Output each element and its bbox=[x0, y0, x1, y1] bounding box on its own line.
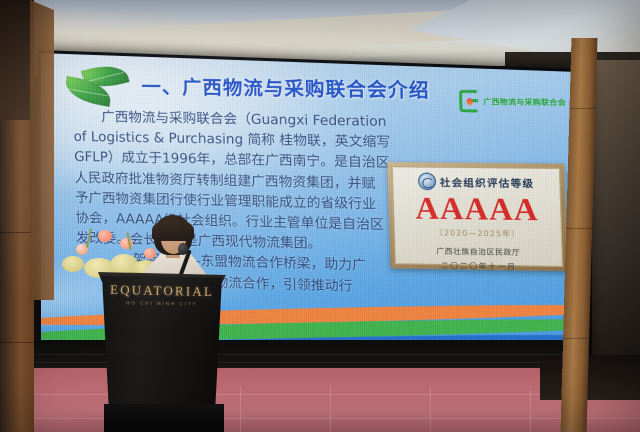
conference-photo-scene: 一、广西物流与采购联合会介绍 广西物流与采购联合会（Guangxi Federa… bbox=[0, 0, 640, 432]
certificate-heading: 社会组织评估等级 bbox=[440, 174, 535, 191]
certificate-years: （2020—2025年） bbox=[435, 227, 521, 240]
organization-seal-icon bbox=[418, 173, 436, 191]
gflp-logo-mark-icon bbox=[459, 90, 480, 113]
podium-branding: EQUATORIAL HO CHI MINH CITY bbox=[104, 282, 220, 307]
floor-shadow bbox=[540, 355, 640, 400]
slide-title: 一、广西物流与采购联合会介绍 bbox=[141, 72, 430, 103]
certificate-grade: AAAAA bbox=[415, 191, 539, 228]
association-logo-text: 广西物流与采购联合会 bbox=[483, 96, 566, 108]
venue-name: EQUATORIAL bbox=[104, 282, 220, 300]
wooden-pillar-left-top bbox=[0, 0, 34, 120]
evaluation-certificate: 社会组织评估等级 AAAAA （2020—2025年） 广西壮族自治区民政厅 二… bbox=[387, 162, 567, 271]
podium-base bbox=[104, 404, 224, 432]
certificate-heading-row: 社会组织评估等级 bbox=[418, 173, 535, 192]
microphone-head-icon bbox=[178, 243, 188, 255]
wall-panel-left bbox=[30, 0, 54, 300]
association-logo: 广西物流与采购联合会 bbox=[459, 90, 566, 114]
certificate-issuer: 广西壮族自治区民政厅 bbox=[436, 246, 521, 259]
certificate-date: 二〇二〇年十一月 bbox=[441, 260, 517, 273]
far-wall bbox=[592, 60, 640, 390]
